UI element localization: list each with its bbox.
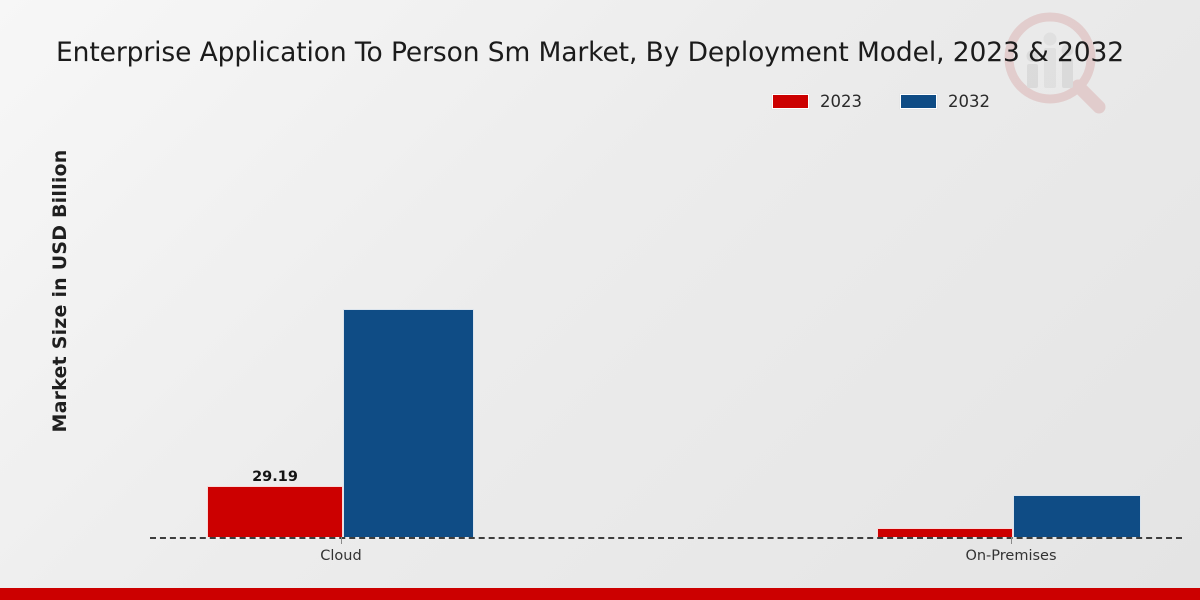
- x-axis-label-on-premises: On-Premises: [931, 548, 1091, 564]
- x-axis-tick-on-premises: [1011, 537, 1012, 544]
- bar-cloud-2032[interactable]: [343, 309, 474, 537]
- x-axis-tick-cloud: [341, 537, 342, 544]
- bar-cloud-2023[interactable]: [207, 486, 343, 537]
- bar-on-premises-2023[interactable]: [877, 528, 1013, 537]
- bar-on-premises-2032[interactable]: [1013, 495, 1141, 537]
- plot-area: 29.19 Cloud On-Premises: [0, 0, 1200, 600]
- footer-accent-strip: [0, 588, 1200, 600]
- x-axis-label-cloud: Cloud: [261, 548, 421, 564]
- bar-label-cloud-2023: 29.19: [207, 469, 343, 485]
- x-axis-baseline: [150, 537, 1182, 539]
